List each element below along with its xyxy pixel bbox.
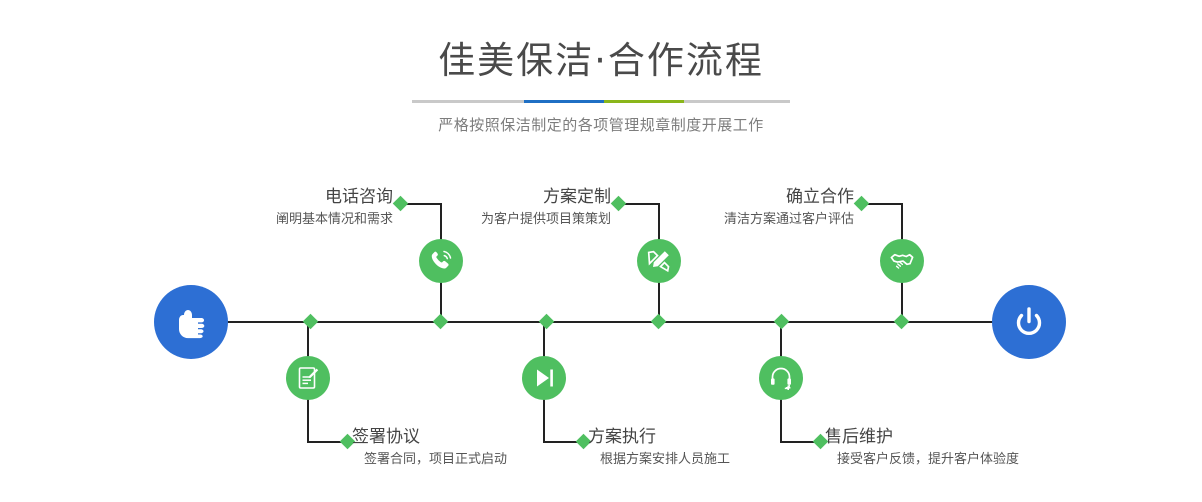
timeline-marker xyxy=(433,314,449,330)
step-subtitle: 签署合同，项目正式启动 xyxy=(352,448,612,470)
timeline-marker xyxy=(651,314,667,330)
power-icon xyxy=(1009,302,1049,342)
flow-diagram: 电话咨询 阐明基本情况和需求 签署协议 签署合同，项目正式启动 xyxy=(0,0,1202,502)
play-next-icon xyxy=(530,364,558,392)
phone-call-icon xyxy=(427,247,455,275)
flow-end-node xyxy=(992,285,1066,359)
step-icon-handshake xyxy=(880,239,924,283)
timeline-marker xyxy=(894,314,910,330)
step-subtitle: 为客户提供项目策策划 xyxy=(373,208,611,230)
pencil-ruler-icon xyxy=(645,247,673,275)
step-icon-phone-call xyxy=(419,239,463,283)
step-title: 方案执行 xyxy=(588,426,848,448)
step-label-after-sales: 售后维护 接受客户反馈，提升客户体验度 xyxy=(825,426,1105,470)
step-label-phone-call: 电话咨询 阐明基本情况和需求 xyxy=(155,186,393,230)
handshake-icon xyxy=(888,247,916,275)
step-title: 方案定制 xyxy=(373,186,611,208)
step-subtitle: 接受客户反馈，提升客户体验度 xyxy=(825,448,1105,470)
headset-support-icon xyxy=(767,364,795,392)
step-title: 签署协议 xyxy=(352,426,612,448)
cooperation-flow-infographic: 佳美保洁·合作流程 严格按照保洁制定的各项管理规章制度开展工作 xyxy=(0,0,1202,502)
step-icon-pencil-ruler xyxy=(637,239,681,283)
step-icon-document-edit xyxy=(286,356,330,400)
step-title: 确立合作 xyxy=(616,186,854,208)
step-title: 电话咨询 xyxy=(155,186,393,208)
step-label-plan-execution: 方案执行 根据方案安排人员施工 xyxy=(588,426,848,470)
step-label-establish-cooperation: 确立合作 清洁方案通过客户评估 xyxy=(616,186,854,230)
label-marker xyxy=(854,196,870,212)
document-edit-icon xyxy=(294,364,322,392)
timeline-marker xyxy=(303,314,319,330)
step-label-plan-customization: 方案定制 为客户提供项目策策划 xyxy=(373,186,611,230)
step-icon-headset-support xyxy=(759,356,803,400)
step-icon-play-next xyxy=(522,356,566,400)
flow-start-node xyxy=(154,285,228,359)
step-subtitle: 阐明基本情况和需求 xyxy=(155,208,393,230)
step-subtitle: 清洁方案通过客户评估 xyxy=(616,208,854,230)
timeline-marker xyxy=(539,314,555,330)
hand-pointing-right-icon xyxy=(171,302,211,342)
step-subtitle: 根据方案安排人员施工 xyxy=(588,448,848,470)
step-title: 售后维护 xyxy=(825,426,1105,448)
step-label-sign-agreement: 签署协议 签署合同，项目正式启动 xyxy=(352,426,612,470)
timeline-marker xyxy=(774,314,790,330)
